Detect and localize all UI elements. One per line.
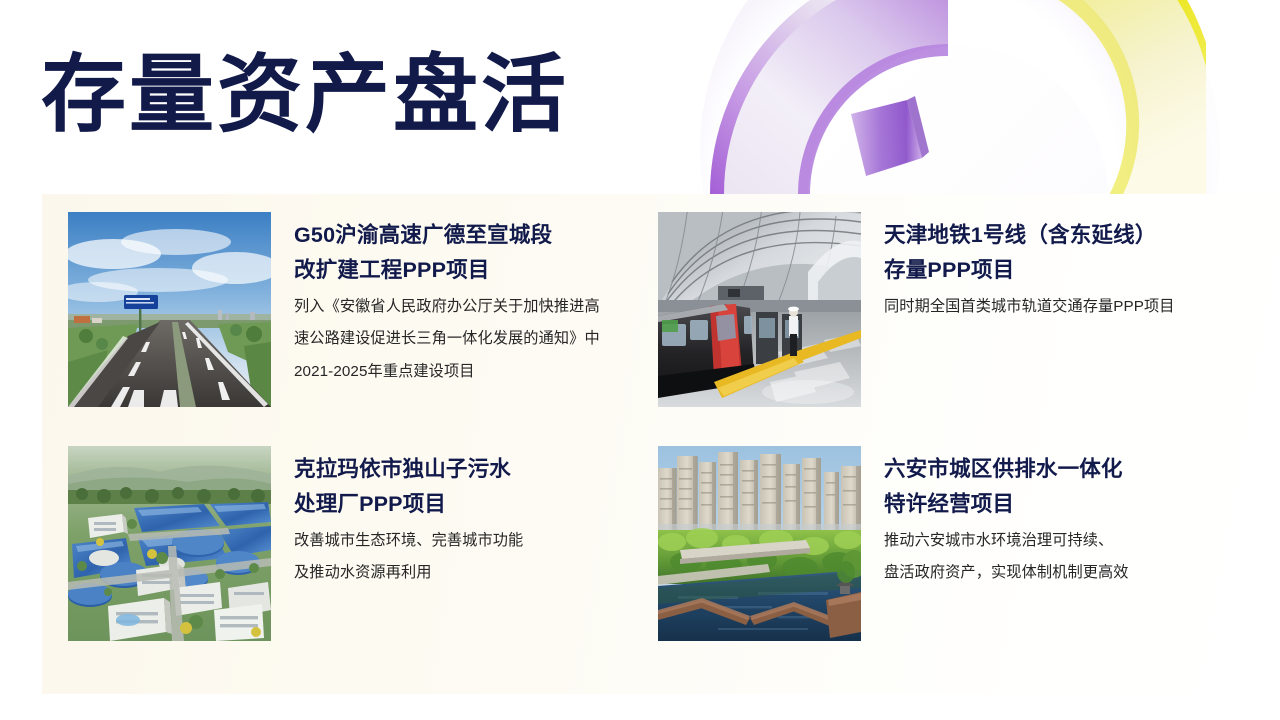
card-text-block: 天津地铁1号线（含东延线） 存量PPP项目 同时期全国首类城市轨道交通存量PPP…: [861, 212, 1238, 444]
card-title-line2: 改扩建工程PPP项目: [294, 253, 648, 288]
card-desc-line2: 及推动水资源再利用: [294, 560, 648, 586]
card-text-block: G50沪渝高速广德至宣城段 改扩建工程PPP项目 列入《安徽省人民政府办公厅关于…: [271, 212, 648, 444]
card-desc-line1: 列入《安徽省人民政府办公厅关于加快推进高: [294, 294, 648, 320]
card-desc-line2: 速公路建设促进长三角一体化发展的通知》中: [294, 326, 648, 352]
card-title-line2: 处理厂PPP项目: [294, 487, 648, 522]
project-cards-grid: G50沪渝高速广德至宣城段 改扩建工程PPP项目 列入《安徽省人民政府办公厅关于…: [68, 212, 1258, 678]
project-card[interactable]: 天津地铁1号线（含东延线） 存量PPP项目 同时期全国首类城市轨道交通存量PPP…: [658, 212, 1238, 444]
card-title-line2: 特许经营项目: [884, 487, 1238, 522]
urban-waterfront-park-photo: [658, 446, 861, 641]
card-desc-line1: 同时期全国首类城市轨道交通存量PPP项目: [884, 294, 1238, 320]
card-title-line1: G50沪渝高速广德至宣城段: [294, 218, 648, 253]
wastewater-treatment-plant-photo: [68, 446, 271, 641]
card-desc-line3: 2021-2025年重点建设项目: [294, 359, 648, 385]
card-desc-line1: 改善城市生态环境、完善城市功能: [294, 528, 648, 554]
slide-canvas: 存量资产盘活: [0, 0, 1280, 720]
page-title: 存量资产盘活: [41, 48, 569, 143]
card-title-line1: 天津地铁1号线（含东延线）: [884, 218, 1238, 253]
card-title-line2: 存量PPP项目: [884, 253, 1238, 288]
highway-photo: [68, 212, 271, 407]
project-card[interactable]: G50沪渝高速广德至宣城段 改扩建工程PPP项目 列入《安徽省人民政府办公厅关于…: [68, 212, 648, 444]
card-desc-line1: 推动六安城市水环境治理可持续、: [884, 528, 1238, 554]
card-title-line1: 六安市城区供排水一体化: [884, 452, 1238, 487]
project-card[interactable]: 六安市城区供排水一体化 特许经营项目 推动六安城市水环境治理可持续、 盘活政府资…: [658, 446, 1238, 678]
card-title-line1: 克拉玛依市独山子污水: [294, 452, 648, 487]
card-text-block: 克拉玛依市独山子污水 处理厂PPP项目 改善城市生态环境、完善城市功能 及推动水…: [271, 446, 648, 678]
card-text-block: 六安市城区供排水一体化 特许经营项目 推动六安城市水环境治理可持续、 盘活政府资…: [861, 446, 1238, 678]
subway-station-photo: [658, 212, 861, 407]
card-desc-line2: 盘活政府资产，实现体制机制更高效: [884, 560, 1238, 586]
project-card[interactable]: 克拉玛依市独山子污水 处理厂PPP项目 改善城市生态环境、完善城市功能 及推动水…: [68, 446, 648, 678]
